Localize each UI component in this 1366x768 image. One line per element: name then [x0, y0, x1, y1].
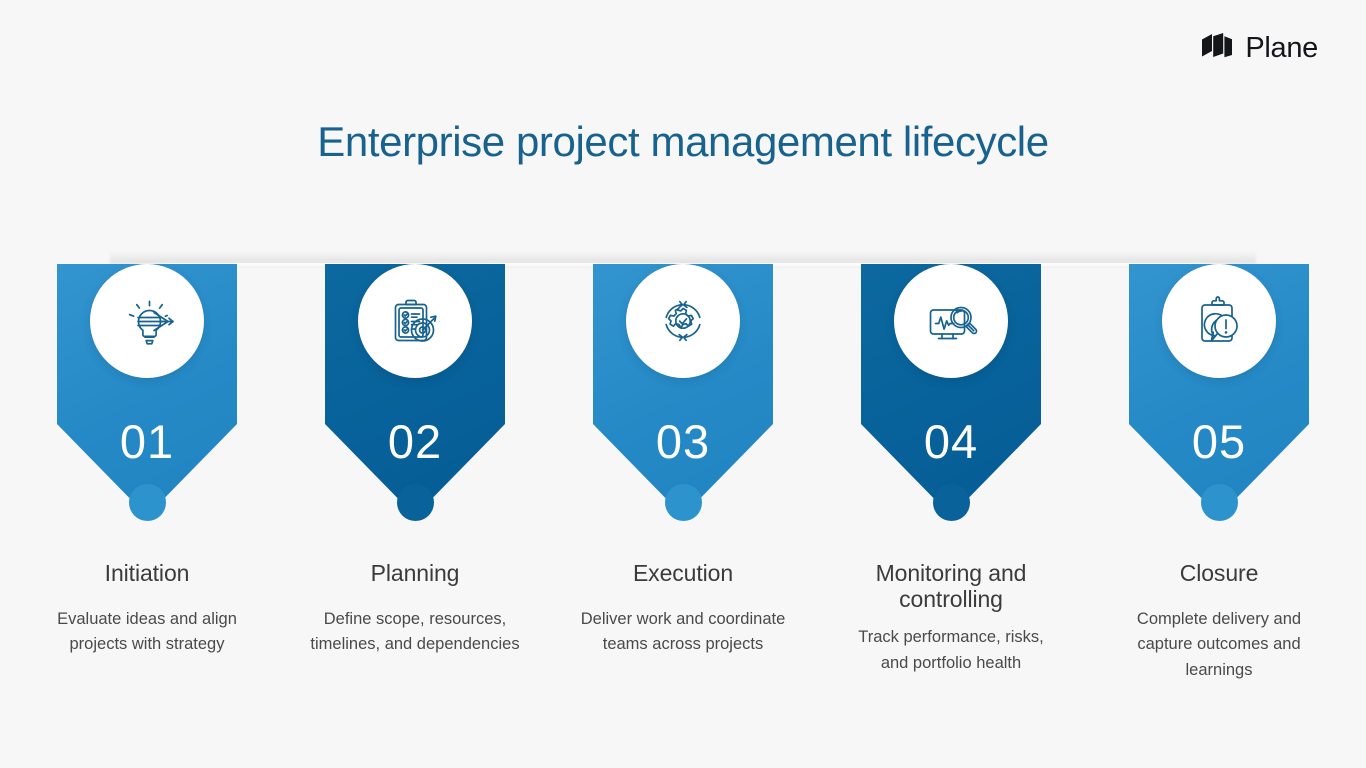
- caption-03: Execution Deliver work and coordinate te…: [571, 484, 795, 683]
- step-03[interactable]: 03: [571, 198, 795, 516]
- caption-02: Planning Define scope, resources, timeli…: [303, 484, 527, 683]
- step-description: Deliver work and coordinate teams across…: [577, 607, 789, 657]
- step-description: Define scope, resources, timelines, and …: [309, 607, 521, 657]
- step-number: 04: [861, 414, 1041, 469]
- caption-04: Monitoring and controlling Track perform…: [839, 484, 1063, 683]
- step-banner-04: 04: [861, 264, 1041, 516]
- step-banner-01: 01: [57, 264, 237, 516]
- step-dot: [397, 484, 434, 521]
- step-title: Monitoring and controlling: [839, 560, 1063, 612]
- page-title: Enterprise project management lifecycle: [0, 118, 1366, 166]
- step-number: 02: [325, 414, 505, 469]
- step-dot: [129, 484, 166, 521]
- step-number: 01: [57, 414, 237, 469]
- step-dot: [933, 484, 970, 521]
- step-dot: [1201, 484, 1238, 521]
- step-01[interactable]: 01: [35, 198, 259, 516]
- step-title: Closure: [1180, 560, 1259, 586]
- lifecycle-captions: Initiation Evaluate ideas and align proj…: [0, 484, 1366, 683]
- step-icon-badge: [1162, 264, 1276, 378]
- step-05[interactable]: 05: [1107, 198, 1331, 516]
- step-icon-badge: [358, 264, 472, 378]
- brand-name: Plane: [1245, 32, 1318, 65]
- step-title: Planning: [371, 560, 460, 586]
- step-02[interactable]: 02: [303, 198, 527, 516]
- step-title: Execution: [633, 560, 733, 586]
- lifecycle-steps: 01 02: [0, 198, 1366, 516]
- step-title: Initiation: [105, 560, 190, 586]
- step-icon-badge: [90, 264, 204, 378]
- step-04[interactable]: 04: [839, 198, 1063, 516]
- lightbulb-idea-icon: [116, 290, 178, 352]
- monitor-pulse-magnifier-icon: [920, 290, 982, 352]
- step-description: Track performance, risks, and portfolio …: [845, 625, 1057, 675]
- step-banner-05: 05: [1129, 264, 1309, 516]
- clipboard-target-icon: [384, 290, 446, 352]
- caption-05: Closure Complete delivery and capture ou…: [1107, 484, 1331, 683]
- brand-logo: Plane: [1200, 32, 1318, 65]
- step-banner-02: 02: [325, 264, 505, 516]
- step-number: 05: [1129, 414, 1309, 469]
- step-description: Evaluate ideas and align projects with s…: [41, 607, 253, 657]
- step-dot: [665, 484, 702, 521]
- step-banner-03: 03: [593, 264, 773, 516]
- gear-check-cycle-icon: [652, 290, 714, 352]
- step-number: 03: [593, 414, 773, 469]
- step-description: Complete delivery and capture outcomes a…: [1113, 607, 1325, 683]
- step-icon-badge: [894, 264, 1008, 378]
- caption-01: Initiation Evaluate ideas and align proj…: [35, 484, 259, 683]
- clipboard-alert-icon: [1188, 290, 1250, 352]
- plane-logo-icon: [1200, 32, 1236, 65]
- step-icon-badge: [626, 264, 740, 378]
